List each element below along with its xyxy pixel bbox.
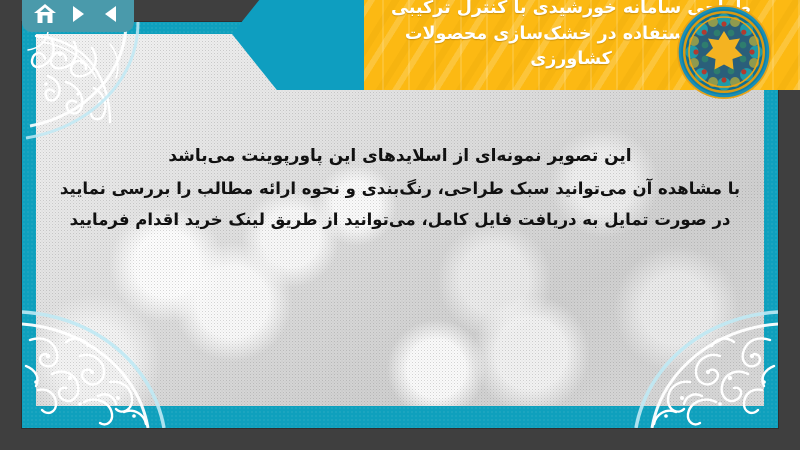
islamic-medallion-ornament [674,2,774,102]
body-line-3: در صورت تمایل به دریافت فایل کامل، می‌تو… [70,208,731,233]
previous-slide-button[interactable] [98,1,124,27]
home-icon [33,2,57,26]
body-line-1: این تصویر نمونه‌ای از اسلایدهای این پاور… [168,144,631,170]
triangle-left-icon [100,3,122,25]
home-button[interactable] [32,1,58,27]
triangle-right-icon [67,3,89,25]
next-slide-button[interactable] [65,1,91,27]
presentation-viewer: این تصویر نمونه‌ای از اسلایدهای این پاور… [0,0,800,450]
title-line-3: کشاورزی [530,47,612,72]
slide-body-text: این تصویر نمونه‌ای از اسلایدهای این پاور… [52,144,748,233]
body-line-2: با مشاهده آن می‌توانید سبک طراحی، رنگ‌بن… [60,177,740,202]
slide-navigation-bar[interactable] [22,0,134,32]
